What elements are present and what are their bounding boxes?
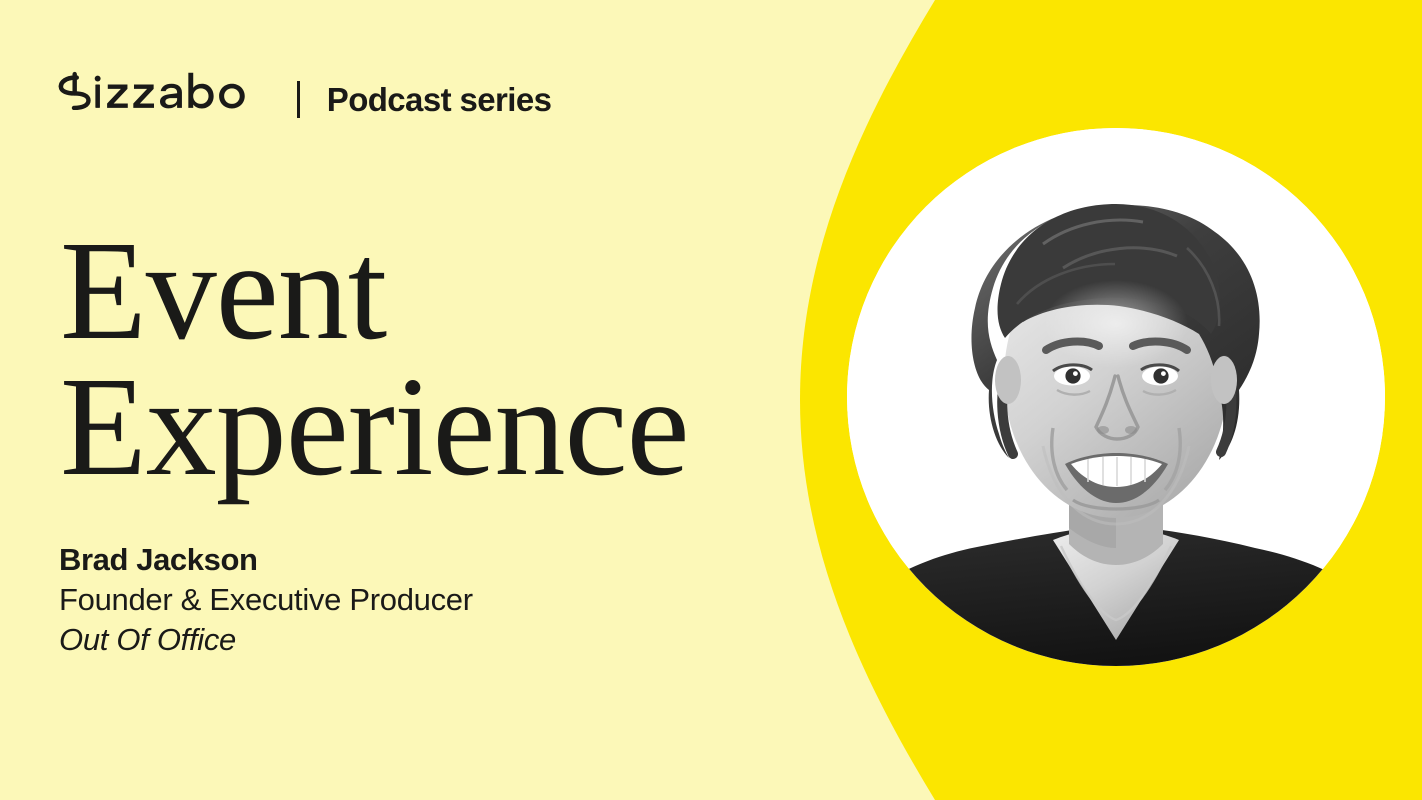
bizzabo-logo[interactable] [54, 70, 268, 128]
speaker-portrait-circle [847, 128, 1385, 666]
bizzabo-wordmark-icon [54, 70, 268, 110]
speaker-name: Brad Jackson [59, 540, 473, 580]
page-title: Event Experience [60, 222, 820, 495]
speaker-role: Founder & Executive Producer [59, 580, 473, 620]
speaker-credit: Brad Jackson Founder & Executive Produce… [59, 540, 473, 660]
page-title-line-1: Event [60, 222, 820, 358]
brand-divider [297, 81, 300, 118]
speaker-company: Out Of Office [59, 620, 473, 660]
podcast-promo-card: Podcast series Event Experience Brad Jac… [0, 0, 1422, 800]
brand-tagline: Podcast series [327, 83, 552, 116]
page-title-line-2: Experience [60, 358, 820, 494]
speaker-portrait-image [847, 128, 1385, 666]
brand-lockup[interactable]: Podcast series [54, 70, 551, 128]
